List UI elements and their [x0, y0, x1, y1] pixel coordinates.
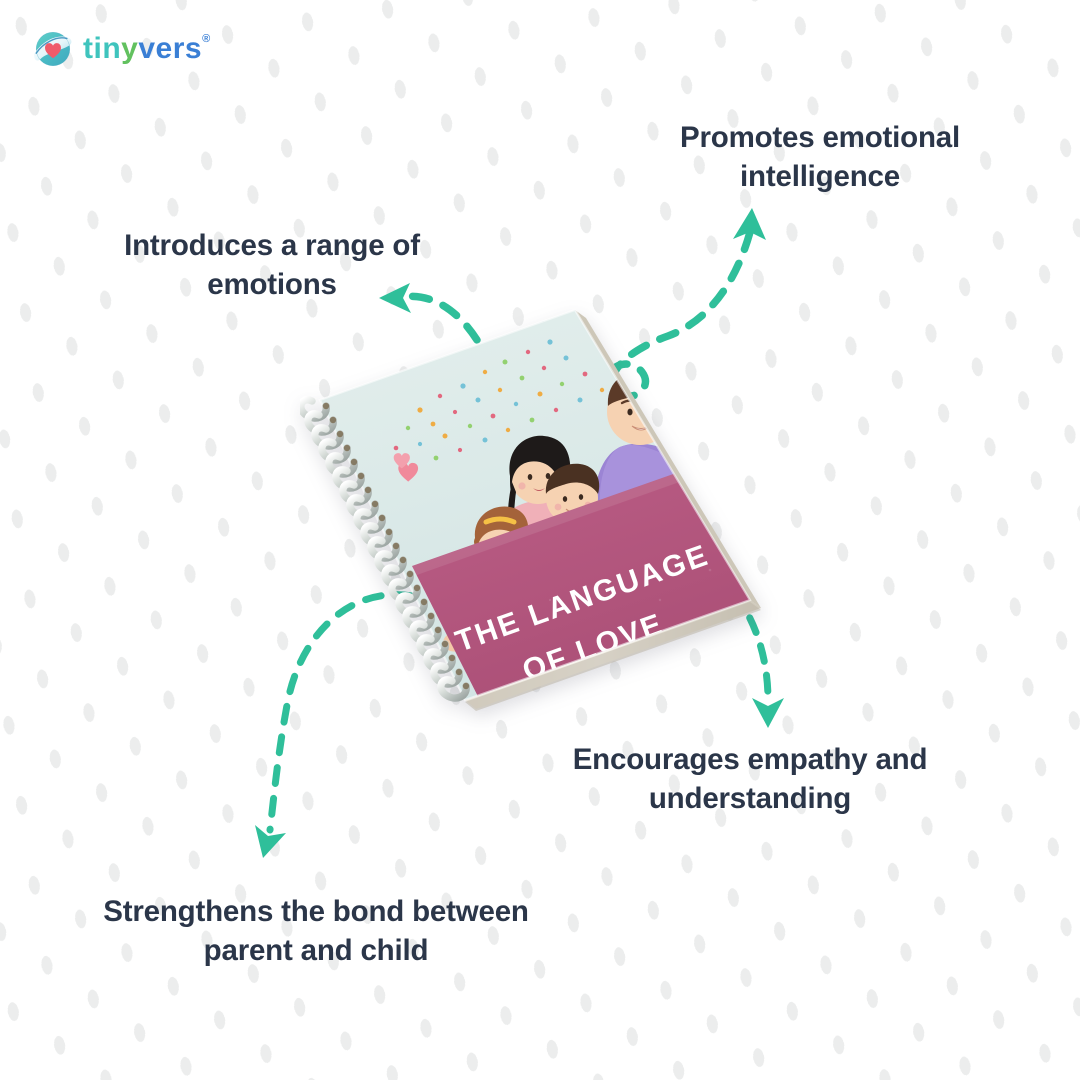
logo-text-vers: vers: [138, 32, 202, 66]
callout-encourages-empathy-understanding: Encourages empathy and understanding: [520, 740, 980, 818]
logo-text-y: y: [121, 32, 138, 66]
tinyvers-logo[interactable]: tinyvers®: [32, 28, 211, 70]
notebook-illustration: tinyvers THE LANGUAGE OF LOVE: [300, 300, 770, 720]
callout-promotes-emotional-intelligence: Promotes emotional intelligence: [640, 118, 1000, 196]
tinyvers-globe-heart-icon: [32, 28, 74, 70]
product-notebook[interactable]: tinyvers THE LANGUAGE OF LOVE: [300, 300, 770, 720]
logo-text-tin: tin: [83, 32, 121, 66]
callout-strengthens-bond-parent-child: Strengthens the bond between parent and …: [92, 892, 540, 970]
tinyvers-wordmark: tinyvers®: [83, 32, 211, 66]
callout-introduces-range-of-emotions: Introduces a range of emotions: [82, 226, 462, 304]
infographic-canvas: tinyvers®: [0, 0, 1080, 1080]
registered-trademark-icon: ®: [202, 34, 211, 45]
